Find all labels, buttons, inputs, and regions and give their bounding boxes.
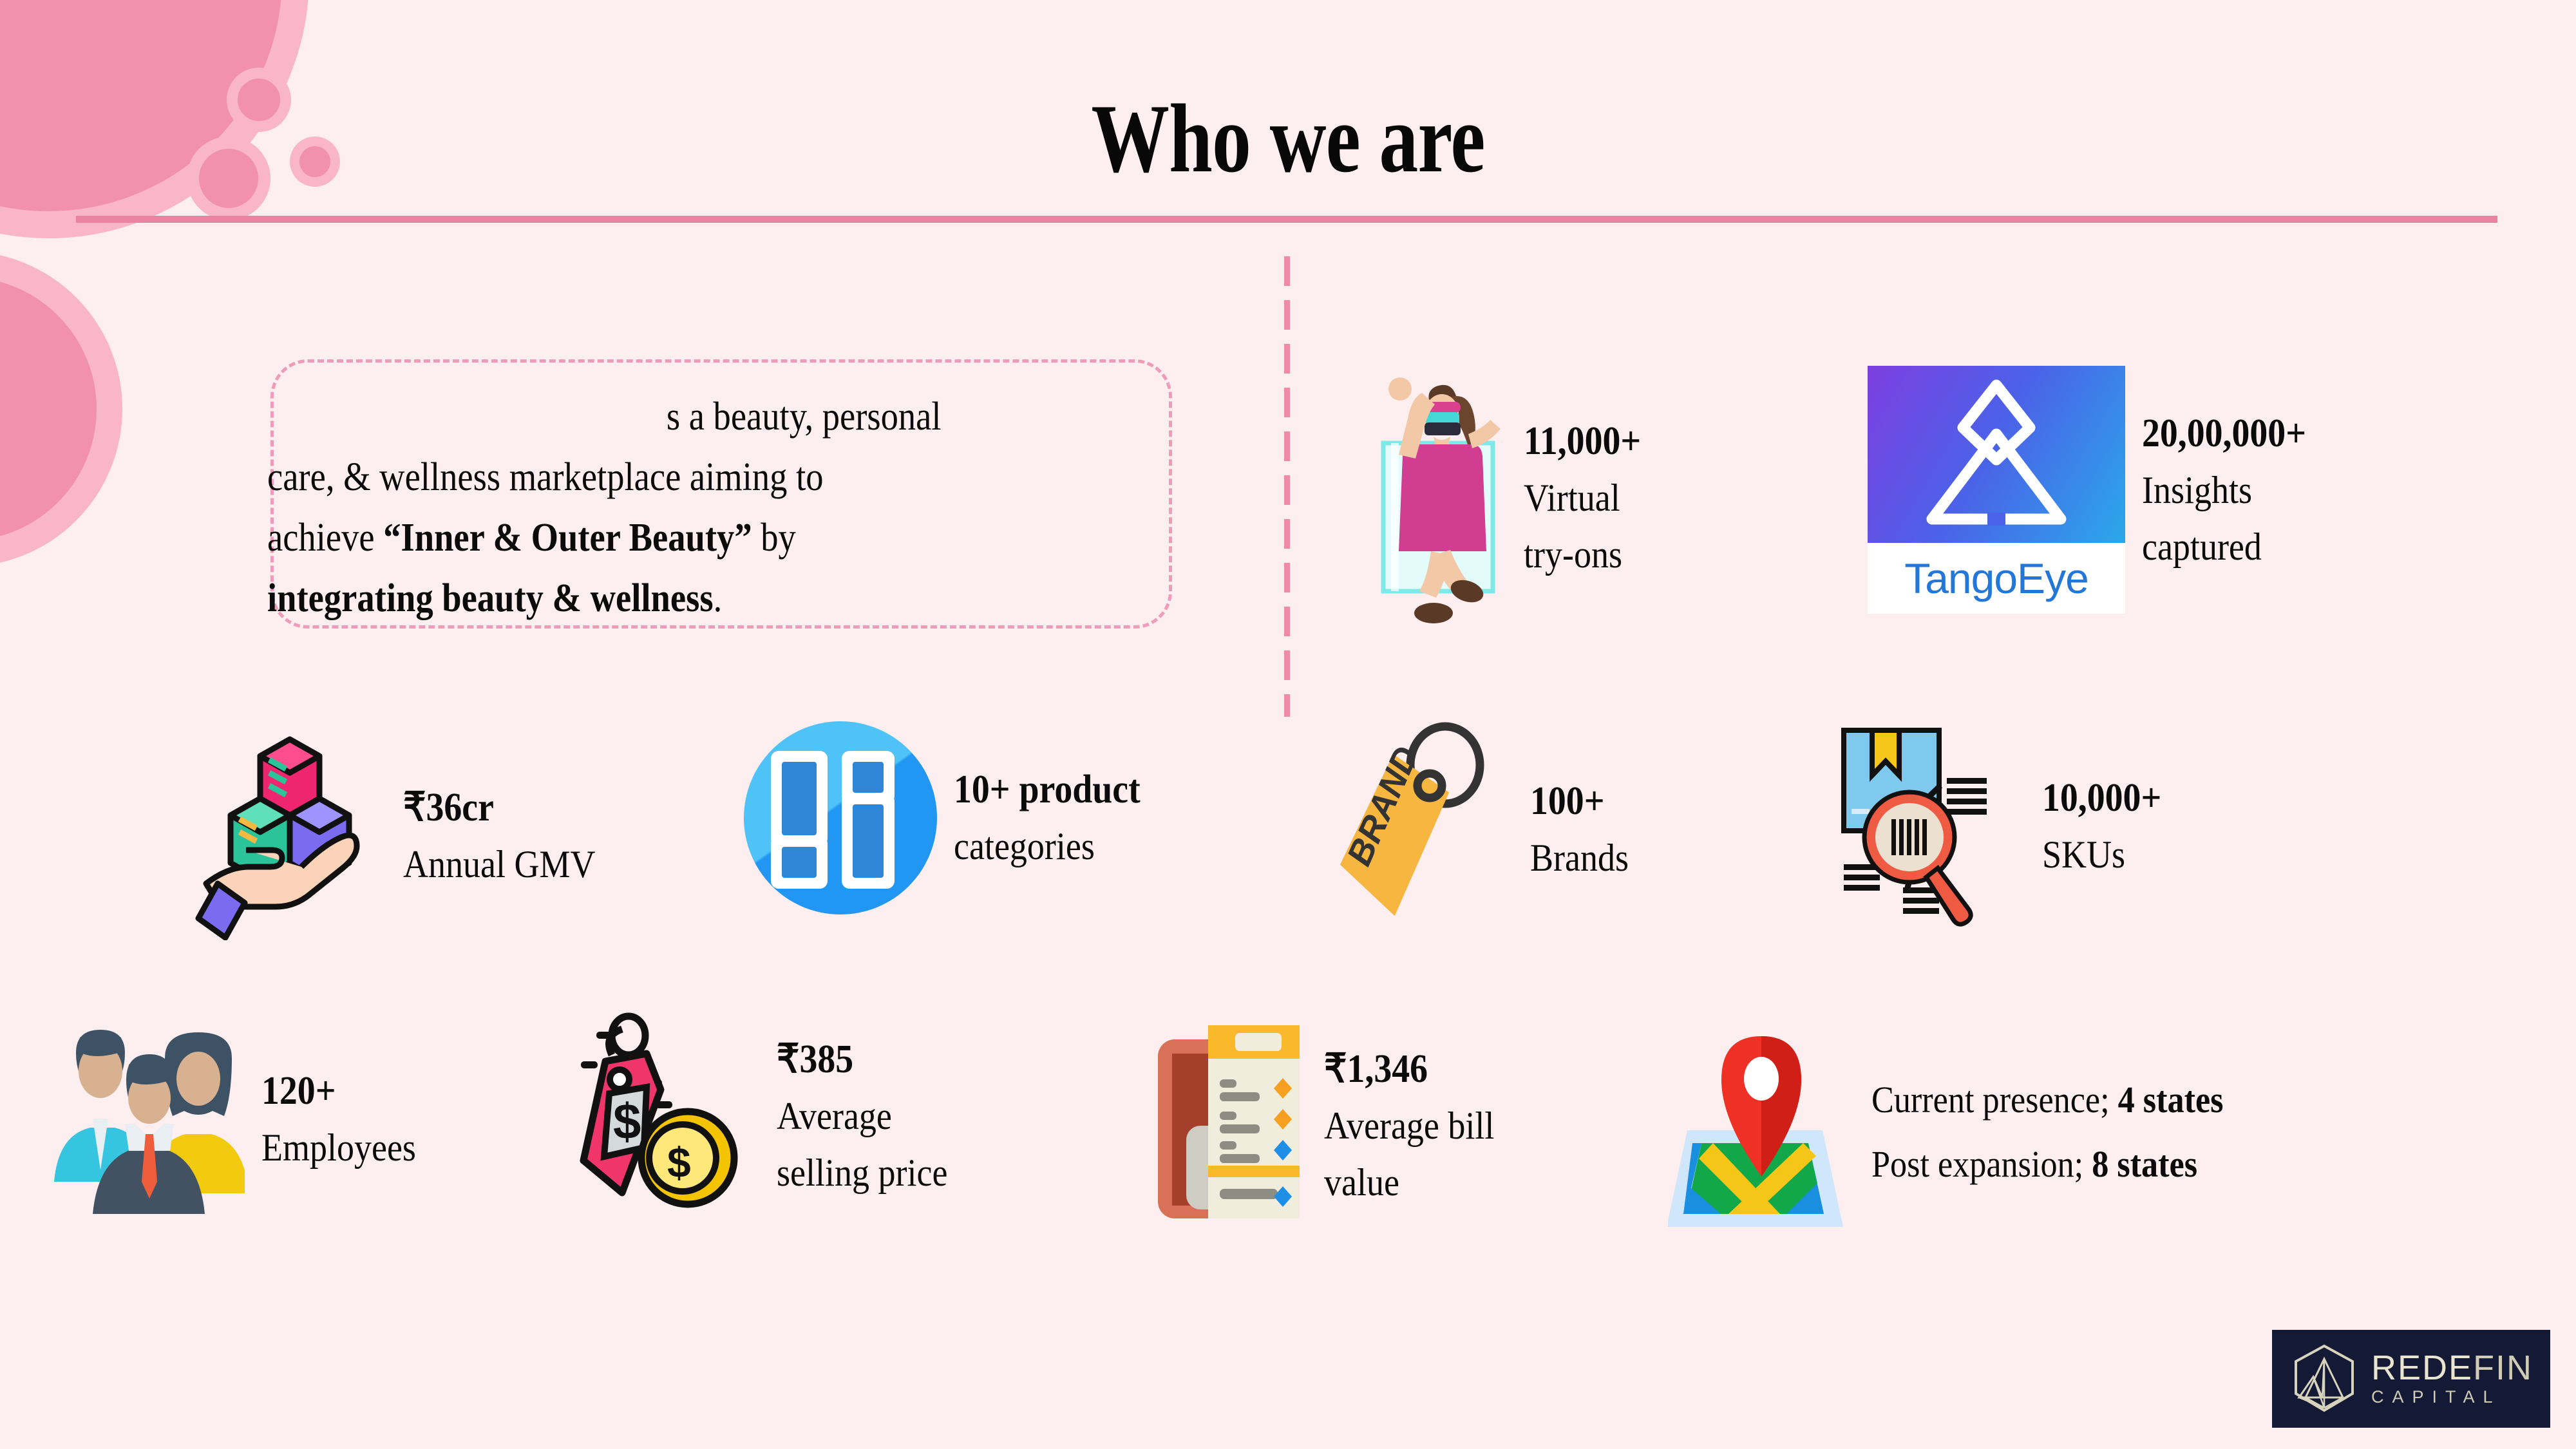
stat-annual-gmv-text: ₹36cr Annual GMV [403, 779, 595, 893]
page-title: Who we are [258, 82, 2318, 194]
stat-abv-label2: value [1324, 1154, 1494, 1211]
svg-text:$: $ [667, 1139, 691, 1186]
stat-employees: 120+ Employees [45, 1021, 433, 1217]
intro-line3-post: by [752, 516, 796, 560]
stat-abv-label1: Average bill [1324, 1097, 1494, 1154]
stat-insights-label2: captured [2142, 518, 2306, 575]
stat-skus-label1: SKUs [2042, 826, 2161, 883]
redefin-hexagon-mountain-icon [2286, 1341, 2362, 1417]
stat-average-selling-price: $ $ ₹385 Average selling price [580, 1011, 967, 1220]
stat-employees-text: 120+ Employees [261, 1063, 416, 1176]
presence-line-2: Post expansion; 8 states [1871, 1132, 2223, 1197]
stat-average-bill-value: ₹1,346 Average bill value [1146, 1018, 1513, 1233]
svg-text:$: $ [613, 1093, 641, 1150]
stat-employees-label1: Employees [261, 1119, 416, 1176]
stat-brands-text: 100+ Brands [1530, 773, 1629, 886]
tangoeye-wordmark: TangoEye [1868, 543, 2125, 614]
intro-line4-bold: integrating beauty & wellness [267, 576, 714, 620]
stat-virtual-tryons-label2: try-ons [1524, 526, 1641, 583]
stat-virtual-tryons-text: 11,000+ Virtual try-ons [1524, 413, 1641, 583]
stat-skus: 10,000+ SKUs [1832, 721, 2175, 931]
stat-skus-text: 10,000+ SKUs [2042, 770, 2161, 883]
receipt-icon [1146, 1018, 1307, 1233]
grid-cell-3 [842, 793, 895, 889]
stat-product-categories: 10+ product categories [744, 721, 1161, 914]
stat-annual-gmv-value: ₹36cr [403, 779, 595, 836]
presence-line-1: Current presence; 4 states [1871, 1068, 2223, 1132]
decorative-circle-large-bottom [0, 251, 122, 567]
redefin-wordmark: REDEFIN [2371, 1350, 2533, 1386]
redefin-word-part2: FIN [2473, 1349, 2533, 1387]
stat-virtual-tryons-value: 11,000+ [1524, 413, 1641, 469]
stat-product-categories-text: 10+ product categories [954, 761, 1141, 875]
capital-subtext: CAPITAL [2371, 1386, 2533, 1408]
intro-paragraph: XXXXXXXXXXXXXXX is a beauty, personal ca… [267, 386, 1066, 629]
header-divider-rule [76, 216, 2497, 223]
price-tag-brand-icon: BRAND [1327, 721, 1513, 937]
stat-skus-value: 10,000+ [2042, 770, 2161, 826]
stat-geographic-presence-text: Current presence; 4 states Post expansio… [1871, 1068, 2223, 1197]
intro-line2: care, & wellness marketplace aiming to [267, 455, 824, 499]
intro-line3-pre: achieve [267, 516, 383, 560]
box-barcode-magnifier-icon [1832, 721, 2025, 931]
stat-average-selling-price-text: ₹385 Average selling price [777, 1031, 947, 1201]
map-pin-icon [1668, 1027, 1855, 1236]
grid-cell-4 [771, 836, 828, 889]
stat-virtual-tryons-label1: Virtual [1524, 469, 1641, 526]
stat-product-categories-value: 10+ product [954, 761, 1141, 818]
redefin-word-part1: REDE [2371, 1349, 2473, 1387]
stat-insights-captured: TangoEye 20,00,000+ Insights captured [1868, 366, 2324, 614]
stat-brands: BRAND 100+ Brands [1327, 721, 1640, 937]
stat-virtual-tryons: 11,000+ Virtual try-ons [1372, 367, 1654, 628]
stat-employees-value: 120+ [261, 1063, 416, 1119]
intro-line3-bold: “Inner & Outer Beauty” [383, 516, 752, 560]
presence-line2-bold: 8 states [2092, 1143, 2197, 1185]
intro-line1: s a beauty, personal [667, 395, 942, 439]
stat-abv-value: ₹1,346 [1324, 1041, 1494, 1097]
tangoeye-logo: TangoEye [1868, 366, 2125, 614]
presence-line1-bold: 4 states [2118, 1079, 2224, 1121]
vr-try-on-icon [1372, 367, 1507, 628]
stat-insights-label1: Insights [2142, 462, 2306, 518]
stat-average-bill-value-text: ₹1,346 Average bill value [1324, 1041, 1494, 1211]
intro-line4-post: . [714, 576, 723, 620]
intro-redacted-company-name: XXXXXXXXXXXXXXX i [267, 395, 667, 439]
stat-geographic-presence: Current presence; 4 states Post expansio… [1668, 1027, 2262, 1236]
vertical-dashed-divider [1284, 256, 1290, 717]
people-group-icon [45, 1021, 245, 1217]
stat-insights-text: 20,00,000+ Insights captured [2142, 405, 2306, 575]
tangoeye-mark-icon [1868, 366, 2125, 543]
hand-boxes-icon [193, 728, 386, 943]
stat-annual-gmv-label1: Annual GMV [403, 836, 595, 893]
presence-line1-pre: Current presence; [1871, 1079, 2118, 1121]
stat-insights-value: 20,00,000+ [2142, 405, 2306, 462]
presence-line2-pre: Post expansion; [1871, 1143, 2092, 1185]
stat-brands-value: 100+ [1530, 773, 1629, 829]
stat-annual-gmv: ₹36cr Annual GMV [193, 728, 617, 943]
redefin-capital-logo: REDEFIN CAPITAL [2272, 1330, 2550, 1428]
grid-layout-icon [744, 721, 937, 914]
price-tag-coin-icon: $ $ [580, 1011, 760, 1220]
stat-product-categories-label1: categories [954, 818, 1141, 875]
stat-asp-value: ₹385 [777, 1031, 947, 1088]
grid-cell-1 [771, 751, 828, 846]
stat-asp-label1: Average [777, 1088, 947, 1144]
stat-asp-label2: selling price [777, 1144, 947, 1201]
stat-brands-label1: Brands [1530, 829, 1629, 886]
